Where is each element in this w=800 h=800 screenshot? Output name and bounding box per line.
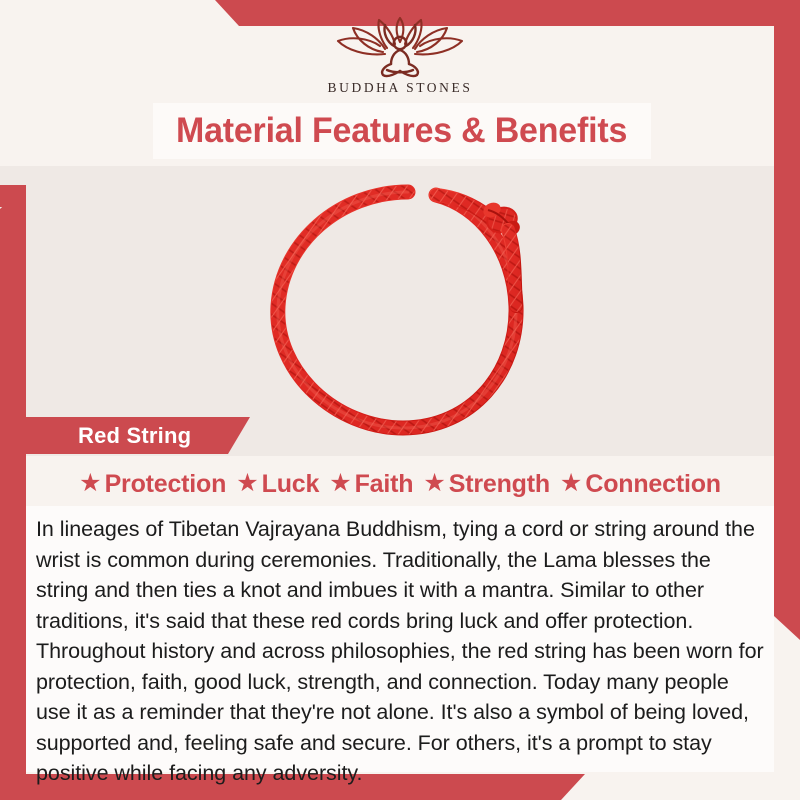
infographic-page: BUDDHA STONES Material Features & Benefi…	[0, 0, 800, 800]
benefit-item-luck: ★ Luck	[236, 470, 319, 499]
star-icon: ★	[329, 471, 351, 496]
star-icon: ★	[423, 471, 445, 496]
benefit-item-connection: ★ Connection	[560, 470, 721, 499]
benefits-list: ★ Protection ★ Luck ★ Faith ★ Strength ★…	[26, 465, 774, 503]
benefit-label: Luck	[262, 470, 320, 499]
description-card: In lineages of Tibetan Vajrayana Buddhis…	[26, 506, 774, 772]
product-image-area	[0, 166, 800, 456]
benefit-item-strength: ★ Strength	[423, 470, 550, 499]
benefit-label: Faith	[355, 470, 414, 499]
title-banner: Material Features & Benefits	[153, 103, 651, 159]
star-icon: ★	[560, 471, 582, 496]
star-icon: ★	[79, 471, 101, 496]
benefit-item-faith: ★ Faith	[329, 470, 413, 499]
product-label: Red String	[78, 423, 191, 449]
red-string-bracelet-image	[240, 166, 560, 451]
description-text: In lineages of Tibetan Vajrayana Buddhis…	[26, 506, 774, 789]
product-label-banner: Red String	[26, 417, 250, 454]
benefit-label: Connection	[585, 470, 721, 499]
benefit-item-protection: ★ Protection	[79, 470, 226, 499]
star-icon: ★	[236, 471, 258, 496]
page-title: Material Features & Benefits	[176, 111, 627, 151]
benefit-label: Protection	[105, 470, 227, 499]
benefit-label: Strength	[449, 470, 550, 499]
